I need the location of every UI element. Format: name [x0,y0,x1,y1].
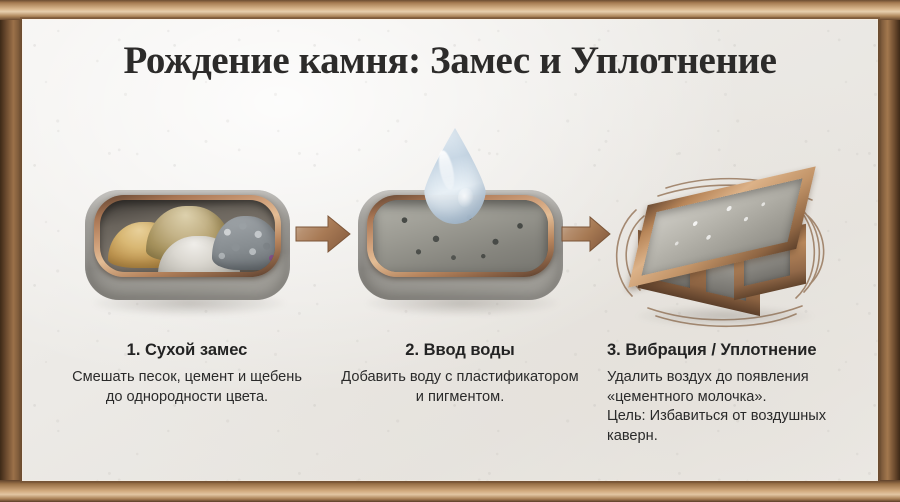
water-drop-body [424,128,486,224]
frame-band-left [0,0,24,502]
caption-step-1: 1. Сухой замес Смешать песок, цемент и щ… [62,341,312,407]
frame-band-bottom [0,480,900,502]
frame-band-right [876,0,900,502]
step-2-heading: 2. Ввод воды [340,341,580,361]
tray-interior [100,200,275,272]
step-1-heading: 1. Сухой замес [62,341,312,361]
step-1-body: Смешать песок, цемент и щебень до одноро… [62,368,312,408]
tray-copper-rim [94,195,281,277]
arrow-right-icon [560,214,612,254]
caption-step-2: 2. Ввод воды Добавить воду с пластификат… [340,341,580,407]
arrow-right-icon [294,212,352,256]
illustration-step-1 [85,190,290,310]
step-3-heading: 3. Вибрация / Уплотнение [607,341,859,361]
page-title: Рождение камня: Замес и Уплотнение [22,38,878,83]
concrete-mold-icon [630,188,816,308]
water-drop-highlight-secondary [458,188,474,208]
step-3-body: Удалить воздух до появления «цементного … [607,368,859,447]
water-drop-icon [424,128,486,224]
step-2-body: Добавить воду с пластификатором и пигмен… [340,368,580,408]
frame-band-top [0,0,900,20]
infographic-canvas: Рождение камня: Замес и Уплотнение [0,0,900,502]
arrow-step1-to-step2 [294,212,352,256]
illustration-step-3 [614,178,834,323]
mixing-tray-icon [85,190,290,300]
arrow-step2-to-step3 [560,214,612,254]
caption-step-3: 3. Вибрация / Уплотнение Удалить воздух … [607,341,859,447]
mold-shadow [636,305,814,327]
